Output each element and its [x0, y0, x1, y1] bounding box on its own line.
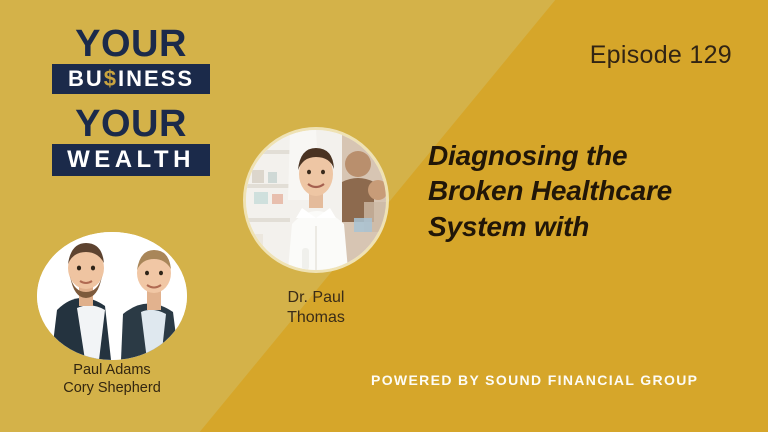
episode-title: Diagnosing the Broken Healthcare System …: [428, 138, 748, 244]
hosts-photo: [37, 232, 187, 360]
logo-business-after: INESS: [118, 66, 194, 91]
logo-your-line1: YOUR: [52, 26, 210, 62]
guest-name: Dr. Paul Thomas: [243, 288, 389, 327]
logo-business-before: BU: [68, 66, 104, 91]
guest-name-line-1: Dr. Paul: [243, 288, 389, 308]
episode-title-line-3: System with: [428, 209, 748, 244]
logo-business-bar: BU$INESS: [52, 64, 210, 94]
episode-artwork-canvas: YOUR BU$INESS YOUR WEALTH Episode 129: [0, 0, 768, 432]
host-names: Paul Adams Cory Shepherd: [37, 362, 187, 397]
episode-number-label: Episode 129: [590, 41, 732, 70]
guest-photo: [243, 127, 389, 273]
hosts-photo-graphic: [37, 232, 187, 360]
brand-logo: YOUR BU$INESS YOUR WEALTH: [52, 26, 210, 176]
guest-name-line-2: Thomas: [243, 308, 389, 328]
episode-title-line-2: Broken Healthcare: [428, 173, 748, 208]
logo-second-row: YOUR WEALTH: [52, 106, 210, 176]
episode-title-line-1: Diagnosing the: [428, 138, 748, 173]
logo-your-line2: YOUR: [52, 106, 210, 142]
host-name-line-2: Cory Shepherd: [37, 380, 187, 398]
dollar-sign-icon: $: [104, 66, 118, 91]
powered-by-label: POWERED BY SOUND FINANCIAL GROUP: [371, 372, 698, 388]
guest-photo-graphic: [246, 130, 386, 270]
host-name-line-1: Paul Adams: [37, 362, 187, 380]
logo-wealth-bar: WEALTH: [52, 144, 210, 176]
